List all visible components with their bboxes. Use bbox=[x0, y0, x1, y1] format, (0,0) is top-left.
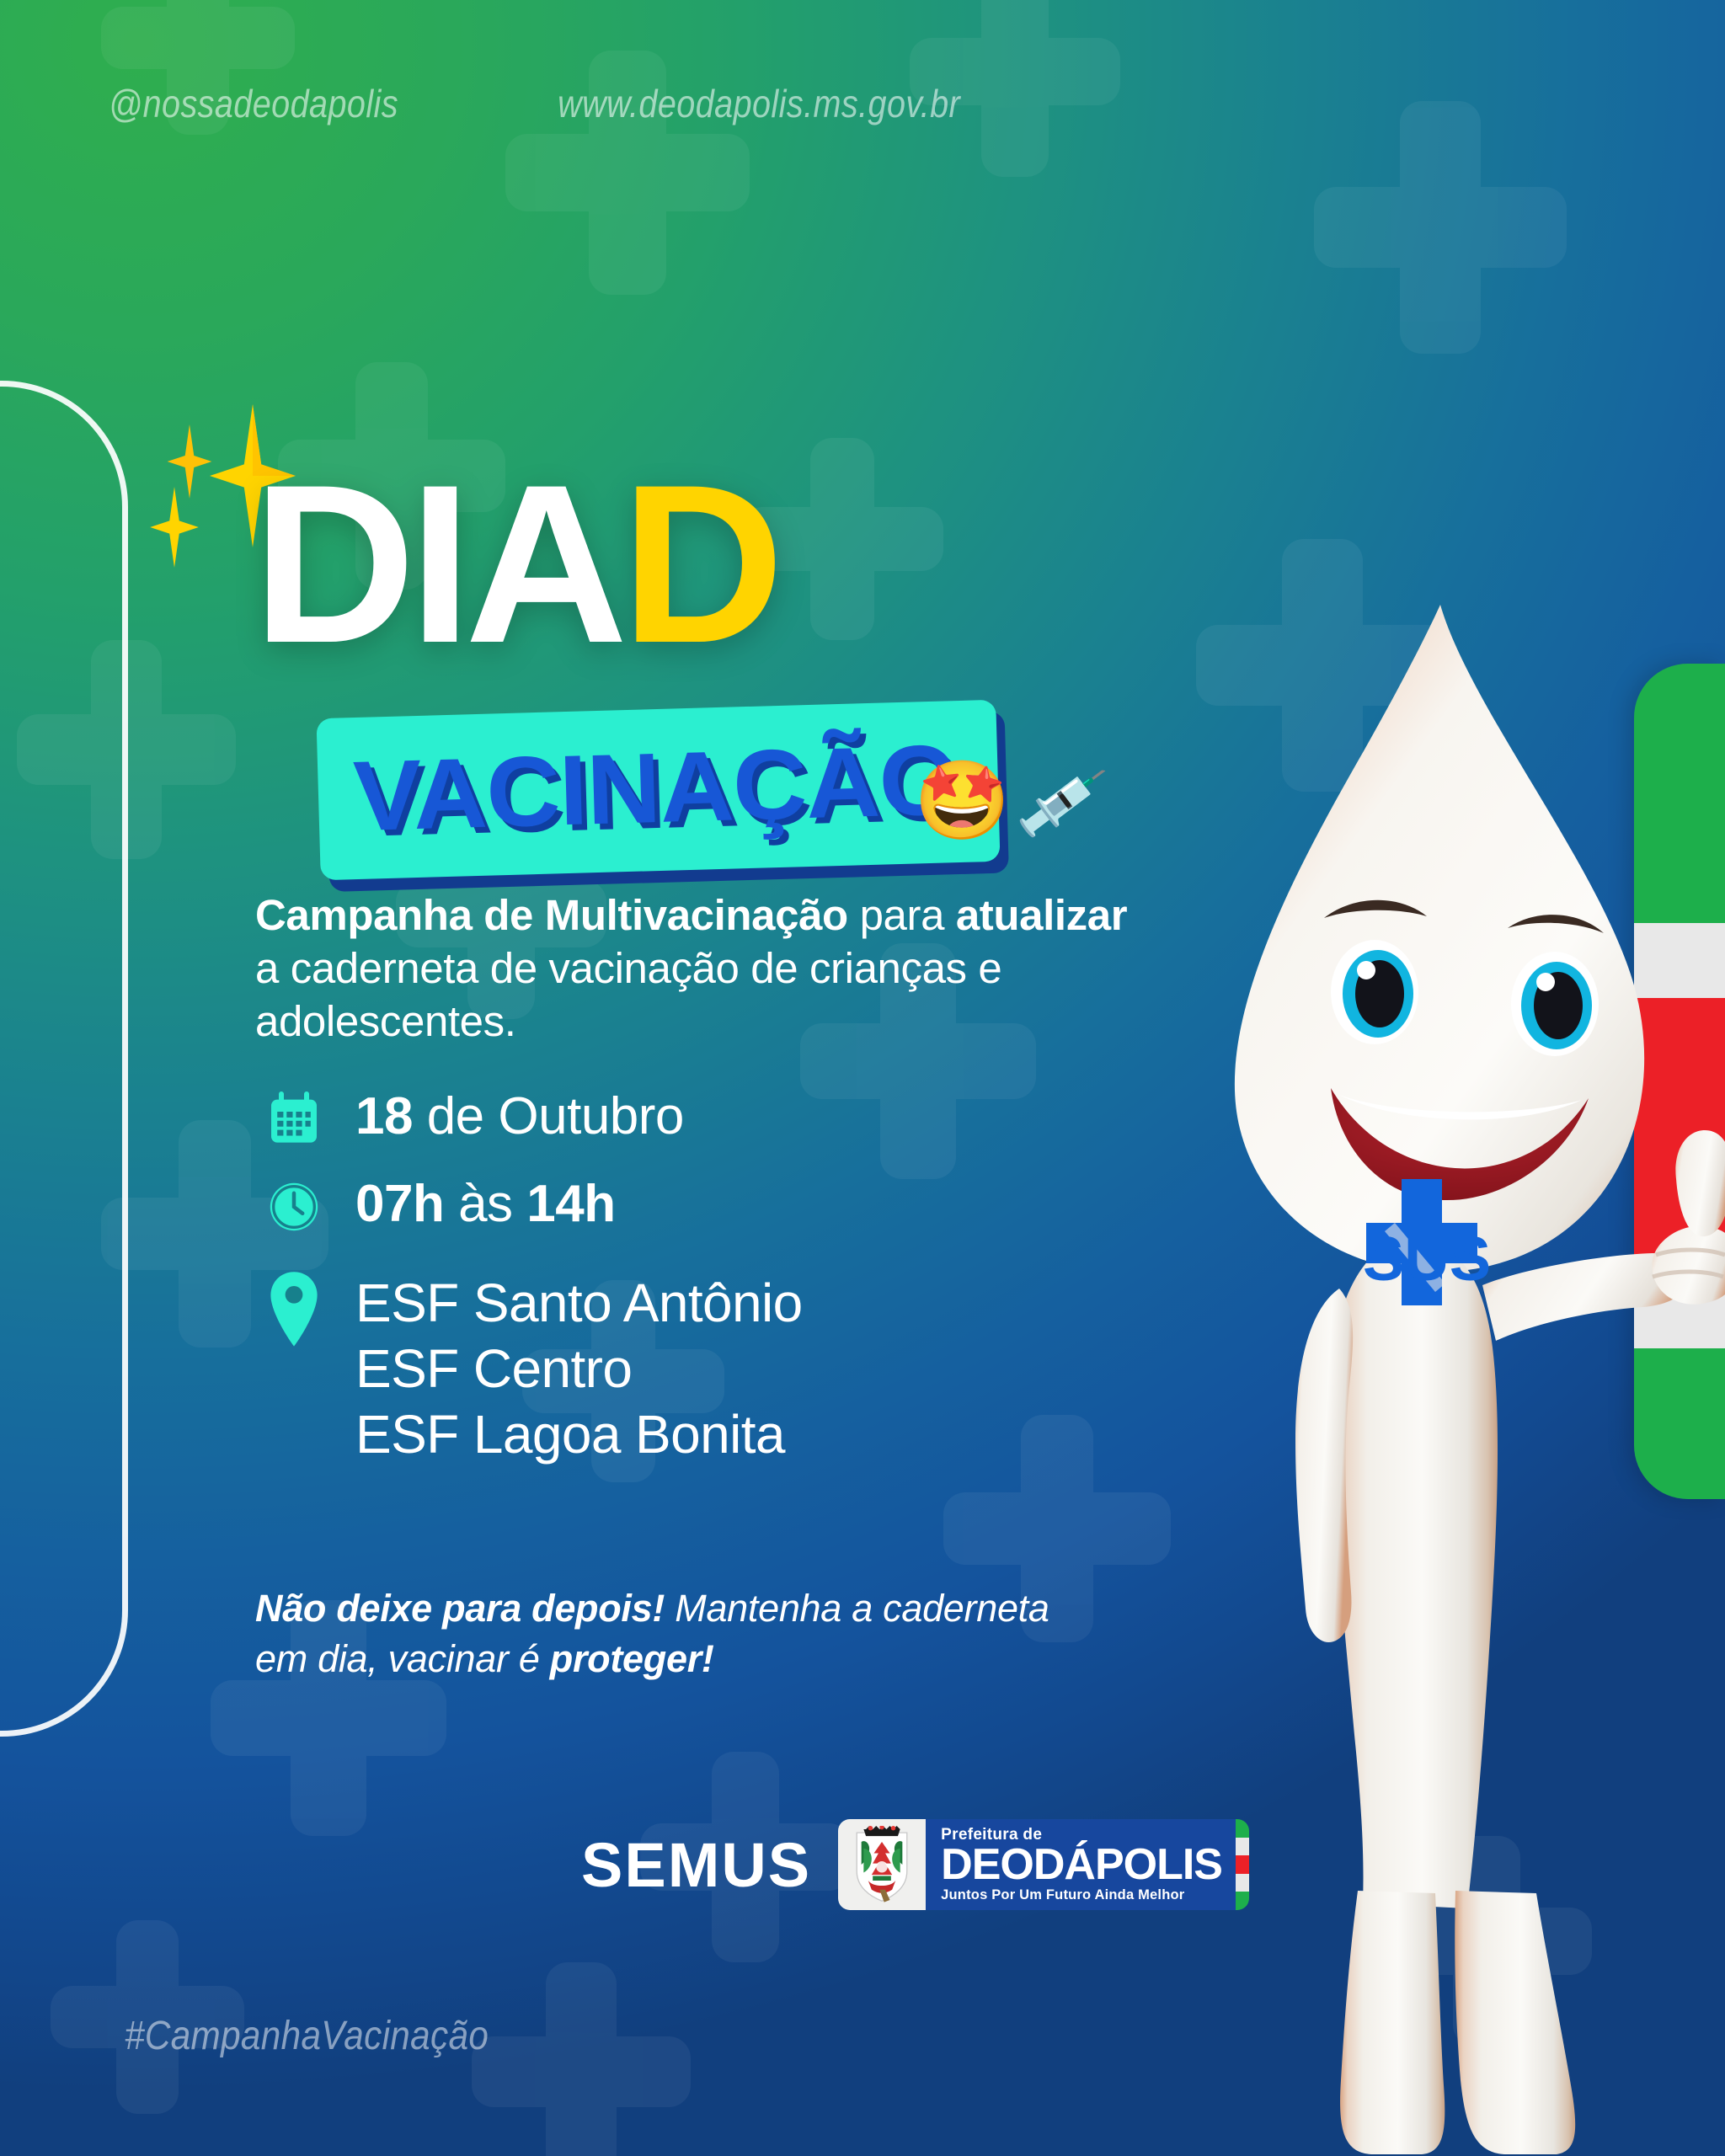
social-handle[interactable]: @nossadeodapolis bbox=[109, 81, 398, 126]
detail-row-time: 07h às 14h bbox=[261, 1174, 1188, 1240]
time-start: 07h bbox=[355, 1175, 444, 1233]
call-to-action: Não deixe para depois! Mantenha a cadern… bbox=[255, 1583, 1106, 1685]
mascot-torso bbox=[1330, 1240, 1498, 1908]
date-day: 18 bbox=[355, 1087, 413, 1145]
calendar-icon bbox=[261, 1086, 327, 1152]
title-word-d: D bbox=[622, 437, 778, 690]
sus-badge-text: SUS bbox=[1363, 1224, 1491, 1294]
time-text: 07h às 14h bbox=[355, 1174, 616, 1231]
banner-label: VACINAÇÃO bbox=[352, 723, 959, 854]
location-item: ESF Santo Antônio bbox=[355, 1270, 803, 1336]
cross-watermark bbox=[1314, 101, 1567, 354]
detail-row-date: 18 de Outubro bbox=[261, 1086, 1188, 1152]
vaccination-banner: VACINAÇÃO bbox=[316, 700, 1000, 880]
description-bold-1: Campanha de Multivacinação bbox=[255, 891, 848, 939]
time-separator: às bbox=[444, 1175, 526, 1233]
location-item: ESF Lagoa Bonita bbox=[355, 1401, 803, 1467]
header-links: @nossadeodapolis www.deodapolis.ms.gov.b… bbox=[0, 81, 1483, 126]
coat-of-arms-icon bbox=[838, 1819, 926, 1910]
location-list: ESF Santo Antônio ESF Centro ESF Lagoa B… bbox=[355, 1270, 803, 1467]
date-text: 18 de Outubro bbox=[355, 1086, 684, 1144]
page-title: DIAD bbox=[253, 472, 777, 657]
website-url[interactable]: www.deodapolis.ms.gov.br bbox=[558, 81, 960, 126]
cta-bold-1: Não deixe para depois! bbox=[255, 1587, 665, 1630]
semus-logo: SEMUS bbox=[581, 1829, 811, 1901]
ze-gotinha-mascot: SUS bbox=[1087, 590, 1725, 2156]
description-plain-2: a caderneta de vacinação de crianças e a… bbox=[255, 944, 1001, 1045]
map-pin-icon bbox=[261, 1270, 327, 1336]
clock-icon bbox=[261, 1174, 327, 1240]
time-end: 14h bbox=[526, 1175, 615, 1233]
mascot-left-arm bbox=[1295, 1289, 1353, 1642]
cross-watermark bbox=[472, 1962, 691, 2156]
mascot-thumb bbox=[1675, 1130, 1725, 1236]
date-month: de Outubro bbox=[413, 1087, 684, 1145]
detail-row-location: ESF Santo Antônio ESF Centro ESF Lagoa B… bbox=[261, 1270, 1188, 1467]
description-plain-1: para bbox=[848, 891, 956, 939]
mascot-right-leg bbox=[1455, 1891, 1575, 2154]
cross-watermark bbox=[17, 640, 236, 859]
footer-hashtag: #CampanhaVacinação bbox=[125, 2013, 489, 2059]
star-struck-icon: 🤩 bbox=[914, 758, 1011, 844]
campaign-description: Campanha de Multivacinação para atualiza… bbox=[255, 889, 1148, 1049]
mascot-left-leg bbox=[1340, 1891, 1445, 2154]
location-item: ESF Centro bbox=[355, 1336, 803, 1401]
cta-bold-2: proteger! bbox=[550, 1637, 714, 1680]
banner-emojis: 🤩💉 bbox=[914, 762, 1105, 840]
title-word-dia: DIA bbox=[253, 437, 622, 690]
decorative-bracket bbox=[0, 381, 128, 1737]
banner-plate: VACINAÇÃO bbox=[316, 700, 1000, 880]
poster-canvas: @nossadeodapolis www.deodapolis.ms.gov.b… bbox=[0, 0, 1725, 2156]
event-details: 18 de Outubro 07h às 14h bbox=[261, 1086, 1188, 1489]
